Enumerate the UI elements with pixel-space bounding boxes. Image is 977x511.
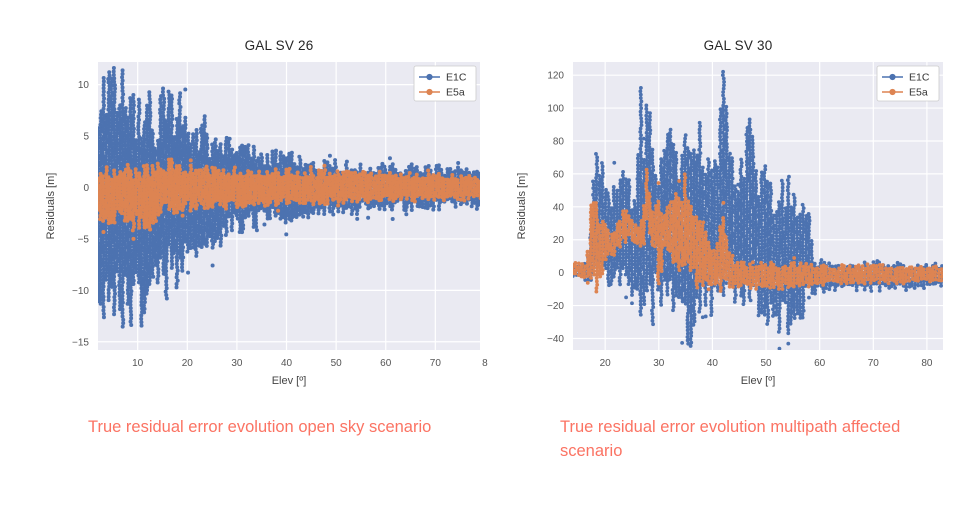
data-point <box>247 214 251 218</box>
data-point <box>124 106 128 110</box>
data-point-outlier <box>322 164 326 168</box>
data-point <box>254 198 258 202</box>
data-point <box>270 153 274 157</box>
data-point <box>142 127 146 131</box>
data-point <box>153 216 157 220</box>
data-point <box>128 110 132 114</box>
data-point <box>322 171 326 175</box>
data-point <box>145 194 149 198</box>
data-point <box>342 181 346 185</box>
data-point <box>147 282 151 286</box>
data-point <box>183 119 187 123</box>
data-point <box>273 159 277 163</box>
data-point <box>208 218 212 222</box>
data-point <box>137 182 141 186</box>
data-point <box>164 262 168 266</box>
data-point <box>164 153 168 157</box>
data-point <box>454 205 458 209</box>
data-point <box>101 181 105 185</box>
data-point <box>101 110 105 114</box>
data-point <box>158 206 162 210</box>
data-point <box>131 123 135 127</box>
data-point <box>102 315 106 319</box>
data-point <box>137 171 141 175</box>
data-point <box>131 107 135 111</box>
data-point-outlier <box>276 209 280 213</box>
data-point <box>161 148 165 152</box>
data-point <box>390 204 394 208</box>
data-point <box>478 199 482 203</box>
data-point <box>121 72 125 76</box>
data-point <box>101 174 105 178</box>
data-point <box>151 132 155 136</box>
data-point <box>115 138 119 142</box>
data-point <box>143 144 147 148</box>
data-point <box>128 150 132 154</box>
data-point <box>328 172 332 176</box>
data-point <box>156 260 160 264</box>
data-point <box>105 169 109 173</box>
data-point <box>120 96 124 100</box>
data-point <box>95 238 99 242</box>
data-point <box>118 226 122 230</box>
data-point <box>232 198 236 202</box>
data-point <box>102 97 106 101</box>
data-point <box>298 162 302 166</box>
data-point <box>134 191 138 195</box>
data-point <box>98 285 102 289</box>
data-point <box>344 176 348 180</box>
data-point <box>121 79 125 83</box>
data-point <box>214 137 218 141</box>
data-point <box>165 296 169 300</box>
data-point <box>175 265 179 269</box>
data-point <box>170 117 174 121</box>
data-point <box>213 141 217 145</box>
data-point <box>341 210 345 214</box>
data-point <box>178 91 182 95</box>
data-point <box>177 122 181 126</box>
data-point-outlier <box>309 165 313 169</box>
data-point <box>121 290 125 294</box>
data-point <box>170 94 174 98</box>
data-point <box>296 170 300 174</box>
data-point <box>311 202 315 206</box>
data-point <box>161 227 165 231</box>
data-point <box>129 320 133 324</box>
data-point <box>378 170 382 174</box>
data-point <box>252 155 256 159</box>
data-point <box>113 292 117 296</box>
data-point <box>107 298 111 302</box>
data-point <box>279 151 283 155</box>
data-point <box>188 149 192 153</box>
data-point <box>202 181 206 185</box>
data-point <box>136 115 140 119</box>
data-point <box>104 144 108 148</box>
data-point-outlier <box>366 216 370 220</box>
data-point <box>221 172 225 176</box>
data-point <box>177 164 181 168</box>
data-point <box>215 236 219 240</box>
data-point <box>118 260 122 264</box>
data-point <box>301 215 305 219</box>
data-point <box>121 92 125 96</box>
data-point <box>158 131 162 135</box>
data-point <box>137 226 141 230</box>
data-point <box>102 76 106 80</box>
data-point <box>368 179 372 183</box>
data-point <box>98 140 102 144</box>
data-point <box>123 191 127 195</box>
data-point <box>121 314 125 318</box>
data-point <box>188 209 192 213</box>
data-point <box>218 146 222 150</box>
data-point <box>107 295 111 299</box>
data-point <box>142 174 146 178</box>
data-point <box>360 177 364 181</box>
data-point <box>118 114 122 118</box>
data-point <box>170 124 174 128</box>
data-point <box>225 230 229 234</box>
data-point <box>368 205 372 209</box>
data-point <box>101 302 105 306</box>
data-point <box>311 211 315 215</box>
data-point <box>136 202 140 206</box>
data-point <box>219 227 223 231</box>
data-point <box>169 104 173 108</box>
data-point <box>390 207 394 211</box>
data-point-outlier <box>328 154 332 158</box>
data-point <box>334 165 338 169</box>
data-point <box>134 171 138 175</box>
data-point <box>167 117 171 121</box>
data-point <box>98 268 102 272</box>
data-point <box>284 221 288 225</box>
data-point <box>134 205 138 209</box>
data-point <box>150 187 154 191</box>
data-point <box>139 313 143 317</box>
data-point <box>104 274 108 278</box>
data-point <box>139 320 143 324</box>
data-point <box>112 100 116 104</box>
data-point <box>194 206 198 210</box>
data-point <box>150 129 154 133</box>
data-point <box>475 207 479 211</box>
data-point-outlier <box>404 212 408 216</box>
data-point <box>112 107 116 111</box>
data-point <box>358 205 362 209</box>
data-point <box>477 172 481 176</box>
data-point <box>159 210 163 214</box>
data-point <box>142 270 146 274</box>
data-point <box>143 300 147 304</box>
data-point <box>102 305 106 309</box>
data-point <box>102 312 106 316</box>
data-point <box>230 228 234 232</box>
data-point <box>165 259 169 263</box>
data-point <box>161 87 165 91</box>
data-point <box>121 325 125 329</box>
data-point <box>136 159 140 163</box>
data-point <box>344 197 348 201</box>
data-point <box>194 200 198 204</box>
data-point <box>120 89 124 93</box>
data-point <box>148 111 152 115</box>
data-point <box>219 234 223 238</box>
data-point <box>243 204 247 208</box>
data-point <box>355 208 359 212</box>
data-point <box>131 93 135 97</box>
data-point <box>186 132 190 136</box>
data-point <box>410 208 414 212</box>
data-point <box>112 278 116 282</box>
data-point <box>102 284 106 288</box>
data-point <box>241 227 245 231</box>
data-point <box>162 100 166 104</box>
data-point <box>112 121 116 125</box>
data-point <box>341 171 345 175</box>
data-point <box>120 297 124 301</box>
data-point <box>218 202 222 206</box>
data-point <box>167 242 171 246</box>
data-point <box>391 162 395 166</box>
data-point <box>164 273 168 277</box>
data-point <box>150 271 154 275</box>
data-point <box>219 142 223 146</box>
data-point <box>137 219 141 223</box>
data-point <box>112 309 116 313</box>
data-point <box>112 73 116 77</box>
data-point <box>101 308 105 312</box>
data-point <box>297 179 301 183</box>
data-point <box>298 158 302 162</box>
data-point <box>202 202 206 206</box>
data-point <box>274 155 278 159</box>
data-point-outlier <box>284 232 288 236</box>
data-point <box>148 118 152 122</box>
data-point <box>404 208 408 212</box>
data-point <box>148 121 152 125</box>
data-point <box>183 201 187 205</box>
data-point <box>180 252 184 256</box>
data-point <box>132 127 136 131</box>
data-point <box>186 197 190 201</box>
data-point <box>287 200 291 204</box>
data-point <box>255 228 259 232</box>
data-point <box>129 309 133 313</box>
data-point <box>179 105 183 109</box>
data-point <box>194 175 198 179</box>
data-point <box>132 279 136 283</box>
data-point <box>363 171 367 175</box>
data-point <box>218 223 222 227</box>
data-point <box>121 318 125 322</box>
data-point <box>333 158 337 162</box>
data-point-outlier <box>101 230 105 234</box>
data-point <box>178 119 182 123</box>
data-point <box>161 90 165 94</box>
figure-gal-sv-26: GAL SV 26 102030405060708−15−10−50510Ele… <box>30 30 490 390</box>
data-point <box>145 197 149 201</box>
data-point <box>120 197 124 201</box>
data-point <box>194 247 198 251</box>
data-point <box>113 97 117 101</box>
data-point <box>195 251 199 255</box>
data-point <box>101 288 105 292</box>
data-point <box>101 257 105 261</box>
data-point <box>113 220 117 224</box>
data-point <box>132 110 136 114</box>
data-point <box>113 299 117 303</box>
data-point <box>465 167 469 171</box>
data-point <box>112 80 116 84</box>
data-point <box>123 171 127 175</box>
data-point <box>205 213 209 217</box>
data-point <box>170 262 174 266</box>
data-point <box>145 240 149 244</box>
data-point <box>112 305 116 309</box>
data-point <box>155 199 159 203</box>
data-point <box>158 124 162 128</box>
data-point-outlier <box>355 217 359 221</box>
data-point <box>156 202 160 206</box>
data-point <box>142 134 146 138</box>
data-point <box>147 94 151 98</box>
data-point <box>102 103 106 107</box>
data-point-outlier <box>456 161 460 165</box>
data-point <box>181 205 185 209</box>
data-point <box>156 274 160 278</box>
data-point <box>121 280 125 284</box>
data-point <box>156 162 160 166</box>
data-point <box>115 165 119 169</box>
data-point <box>104 226 108 230</box>
data-point <box>306 198 310 202</box>
data-point <box>410 162 414 166</box>
data-point <box>148 97 152 101</box>
data-point <box>453 201 457 205</box>
data-point <box>102 79 106 83</box>
data-point <box>189 167 193 171</box>
data-point <box>101 219 105 223</box>
data-point <box>132 103 136 107</box>
data-point <box>274 152 278 156</box>
data-point <box>165 249 169 253</box>
data-point <box>281 195 285 199</box>
data-point <box>230 222 234 226</box>
data-point <box>344 187 348 191</box>
data-point <box>145 292 149 296</box>
data-point <box>465 202 469 206</box>
data-point <box>106 128 110 132</box>
data-point <box>131 282 135 286</box>
data-point <box>257 201 261 205</box>
data-point <box>158 101 162 105</box>
data-point <box>327 206 331 210</box>
data-point-outlier <box>181 214 185 218</box>
data-point <box>145 163 149 167</box>
data-point <box>279 198 283 202</box>
data-point <box>129 286 133 290</box>
data-point <box>268 209 272 213</box>
data-point <box>165 252 169 256</box>
data-point <box>224 220 228 224</box>
data-point <box>113 288 117 292</box>
data-point <box>121 99 125 103</box>
data-point <box>170 97 174 101</box>
data-point <box>188 184 192 188</box>
data-point <box>205 133 209 137</box>
data-point <box>181 255 185 259</box>
data-point <box>121 85 125 89</box>
data-point <box>177 160 181 164</box>
data-point <box>104 154 108 158</box>
data-point <box>437 204 441 208</box>
data-point <box>132 117 136 121</box>
data-point <box>379 198 383 202</box>
data-point <box>358 163 362 167</box>
data-point <box>140 324 144 328</box>
data-point <box>427 164 431 168</box>
data-point <box>298 201 302 205</box>
data-point <box>177 98 181 102</box>
data-point <box>131 228 135 232</box>
data-point <box>204 139 208 143</box>
data-point <box>137 104 141 108</box>
data-point <box>148 279 152 283</box>
data-point <box>120 284 124 288</box>
data-point <box>145 275 149 279</box>
data-point <box>143 307 147 311</box>
data-point <box>378 207 382 211</box>
data-point <box>254 162 258 166</box>
data-point <box>177 102 181 106</box>
data-point <box>112 281 116 285</box>
data-point <box>129 293 133 297</box>
data-point <box>181 245 185 249</box>
data-point <box>211 211 215 215</box>
data-point <box>164 266 168 270</box>
data-point <box>162 107 166 111</box>
data-point <box>195 203 199 207</box>
data-point <box>211 205 215 209</box>
data-point <box>273 182 277 186</box>
data-point <box>144 234 148 238</box>
data-point <box>165 276 169 280</box>
data-point <box>177 171 181 175</box>
data-point <box>117 280 121 284</box>
data-point <box>136 131 140 135</box>
data-point <box>148 107 152 111</box>
data-point <box>366 200 370 204</box>
data-point <box>200 245 204 249</box>
data-point <box>262 200 266 204</box>
data-point <box>120 106 124 110</box>
data-point <box>341 184 345 188</box>
data-point <box>154 219 158 223</box>
data-point <box>112 168 116 172</box>
data-point <box>137 195 141 199</box>
data-point <box>121 308 125 312</box>
data-point <box>178 108 182 112</box>
data-point <box>166 113 170 117</box>
data-point <box>194 220 198 224</box>
data-point-outlier <box>211 264 215 268</box>
data-point <box>104 254 108 258</box>
data-point <box>112 312 116 316</box>
data-point <box>211 246 215 250</box>
